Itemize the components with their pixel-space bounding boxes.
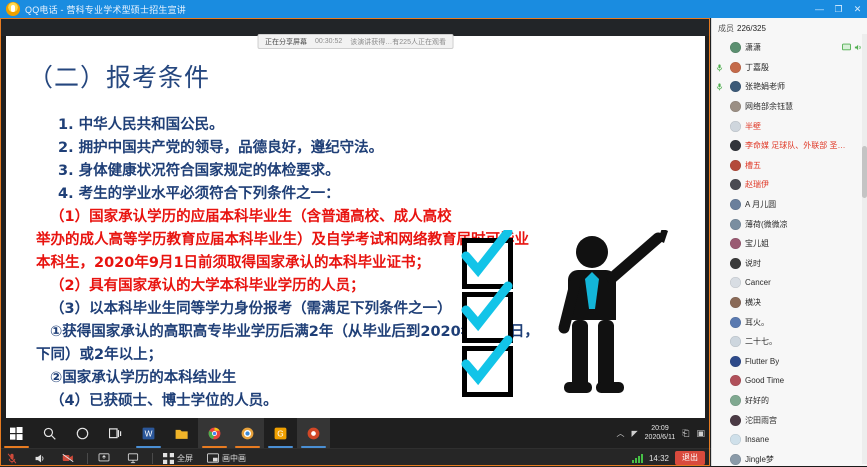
avatar <box>730 375 741 386</box>
chrome-icon <box>208 427 221 440</box>
restore-button[interactable]: ❐ <box>829 0 848 18</box>
windows-logo <box>10 427 23 440</box>
share-screen-button[interactable] <box>91 449 120 467</box>
avatar <box>730 121 741 132</box>
member-row[interactable]: 半壁 <box>712 116 867 136</box>
show-desktop-icon[interactable]: ▣ <box>696 428 705 439</box>
member-row[interactable]: 潇潇 <box>712 38 867 58</box>
qq-penguin-icon <box>6 2 20 16</box>
slide-title: （二）报考条件 <box>28 58 210 94</box>
member-list-label: 成员 <box>718 23 734 34</box>
member-list: 潇潇丁嘉殷张艳娟老师网络部余钰慧半壁李命媒 足球队、外联部 圣…槽五赵瑞伊A 月… <box>712 38 867 466</box>
word-icon: W <box>142 427 155 440</box>
picture-in-picture-icon <box>207 453 219 463</box>
presentation-icon <box>127 453 139 464</box>
member-row[interactable]: 网络部余钰慧 <box>712 97 867 117</box>
svg-text:W: W <box>145 429 153 438</box>
screen-share-icon <box>842 43 851 52</box>
taskbar-date: 2020/6/11 <box>645 433 676 442</box>
share-viewers-text: 该演讲获得…有225人正在观看 <box>350 37 446 47</box>
screen-share-icon <box>98 453 110 463</box>
member-sidebar: 成员 226/325 潇潇丁嘉殷张艳娟老师网络部余钰慧半壁李命媒 足球队、外联部… <box>711 18 867 466</box>
member-name: 赵瑞伊 <box>745 179 769 190</box>
call-right-controls: 14:32 退出 <box>632 451 711 465</box>
svg-text:G: G <box>277 429 283 438</box>
avatar <box>730 140 741 151</box>
camera-off-icon <box>62 453 74 463</box>
member-name: Insane <box>745 435 769 444</box>
member-name: 说时 <box>745 258 761 269</box>
taskbar-chrome-app[interactable] <box>198 418 231 448</box>
presentation-button[interactable] <box>120 449 149 467</box>
taskbar-powerpoint-app[interactable] <box>297 418 330 448</box>
taskbar-browser-app[interactable] <box>231 418 264 448</box>
fullscreen-icon <box>163 453 174 464</box>
avatar <box>730 356 741 367</box>
member-name: Good Time <box>745 376 784 385</box>
pip-button[interactable]: 画中画 <box>200 449 253 467</box>
member-name: 网络部余钰慧 <box>745 101 793 112</box>
member-badges <box>842 43 863 52</box>
member-count: 226/325 <box>737 24 766 33</box>
minimize-button[interactable]: — <box>810 0 829 18</box>
speaker-icon <box>34 453 45 464</box>
person-figure-icon <box>534 230 674 410</box>
member-list-header: 成员 226/325 <box>712 18 867 36</box>
slide-line: 4. 考生的学业水平必须符合下列条件之一： <box>36 183 696 206</box>
slide-line: （1）国家承认学历的应届本科毕业生（含普通高校、成人高校 <box>36 206 696 229</box>
slide-line: 3. 身体健康状况符合国家规定的体检要求。 <box>36 160 696 183</box>
avatar <box>730 415 741 426</box>
member-row[interactable]: 好好的 <box>712 391 867 411</box>
member-name: 槽五 <box>745 160 761 171</box>
member-row[interactable]: Jingle梦 <box>712 449 867 466</box>
taskview-icon <box>109 427 122 440</box>
member-row[interactable]: 二十七。 <box>712 332 867 352</box>
tray-app-icon[interactable]: ⎗ <box>682 428 689 439</box>
call-control-bar: 全屏 画中画 14:32 退出 <box>0 448 711 467</box>
share-status-bar: 正在分享屏幕 00:30:52 该演讲获得…有225人正在观看 <box>257 34 454 49</box>
shared-screen-stage: 正在分享屏幕 00:30:52 该演讲获得…有225人正在观看 （二）报考条件 … <box>0 18 711 418</box>
taskbar-explorer-app[interactable] <box>165 418 198 448</box>
taskbar-qq-app[interactable]: G <box>264 418 297 448</box>
avatar <box>730 395 741 406</box>
browser-icon <box>241 427 254 440</box>
window-title: QQ电话 - 营科专业学术型硕士招生宣讲 <box>25 3 186 16</box>
member-name: 二十七。 <box>745 336 777 347</box>
avatar <box>730 81 741 92</box>
taskbar-clock[interactable]: 20:09 2020/6/11 <box>645 424 676 442</box>
member-mic-icon <box>716 64 723 72</box>
fullscreen-label: 全屏 <box>177 453 193 464</box>
member-name: A 月儿圆 <box>745 199 776 210</box>
member-row[interactable]: 赵瑞伊 <box>712 175 867 195</box>
member-row[interactable]: A 月儿圆 <box>712 195 867 215</box>
share-status-label: 正在分享屏幕 <box>265 37 307 47</box>
member-row[interactable]: 耳火。 <box>712 312 867 332</box>
member-row[interactable]: 宝儿姐 <box>712 234 867 254</box>
avatar <box>730 42 741 53</box>
ppt-icon <box>307 427 320 440</box>
tray-overflow-icon[interactable]: ︿ <box>617 428 625 439</box>
member-mic-icon <box>716 83 723 91</box>
avatar <box>730 277 741 288</box>
member-row[interactable]: Flutter By <box>712 352 867 372</box>
slide-line: 2. 拥护中国共产党的领导，品德良好，遵纪守法。 <box>36 137 696 160</box>
circle-icon <box>76 427 89 440</box>
member-row[interactable]: Good Time <box>712 371 867 391</box>
taskbar-search-button[interactable] <box>33 418 66 448</box>
member-name: 好好的 <box>745 395 769 406</box>
share-elapsed-time: 00:30:52 <box>315 38 342 45</box>
window-title-bar[interactable]: QQ电话 - 营科专业学术型硕士招生宣讲 — ❐ ✕ <box>0 0 867 18</box>
member-row[interactable]: Insane <box>712 430 867 450</box>
member-row[interactable]: 薄荷(微微凉 <box>712 214 867 234</box>
slide-line: 1. 中华人民共和国公民。 <box>36 114 696 137</box>
taskbar-taskview-button[interactable] <box>99 418 132 448</box>
system-tray: ︿ ◤ 20:09 2020/6/11 ⎗ ▣ <box>617 418 712 448</box>
avatar <box>730 179 741 190</box>
avatar <box>730 219 741 230</box>
avatar <box>730 101 741 112</box>
member-row[interactable]: 沱田雨宫 <box>712 410 867 430</box>
avatar <box>730 62 741 73</box>
member-name: 潇潇 <box>745 42 761 53</box>
member-name: 张艳娟老师 <box>745 81 785 92</box>
window-controls: — ❐ ✕ <box>810 0 867 18</box>
avatar <box>730 258 741 269</box>
avatar <box>730 238 741 249</box>
close-button[interactable]: ✕ <box>848 0 867 18</box>
member-name: 宝儿姐 <box>745 238 769 249</box>
member-name: Flutter By <box>745 357 779 366</box>
windows-taskbar: WG ︿ ◤ 20:09 2020/6/11 ⎗ ▣ <box>0 418 711 448</box>
member-row[interactable]: 槽五 <box>712 156 867 176</box>
signal-strength-icon <box>632 454 643 463</box>
taskbar-start-button[interactable] <box>0 418 33 448</box>
avatar <box>730 297 741 308</box>
member-row[interactable]: 张艳娟老师 <box>712 77 867 97</box>
member-name: 耳火。 <box>745 317 769 328</box>
checklist-person-illustration <box>456 230 681 410</box>
speaker-toggle-button[interactable] <box>27 449 55 467</box>
fullscreen-button[interactable]: 全屏 <box>156 449 200 467</box>
avatar <box>730 454 741 465</box>
speaking-icon <box>854 43 863 52</box>
avatar <box>730 317 741 328</box>
taskbar-cortana-button[interactable] <box>66 418 99 448</box>
member-name: 横决 <box>745 297 761 308</box>
control-divider-2 <box>152 453 153 464</box>
tray-network-icon[interactable]: ◤ <box>632 429 638 438</box>
folder-icon <box>175 427 188 440</box>
avatar <box>730 199 741 210</box>
member-name: 半壁 <box>745 121 761 132</box>
search-icon <box>43 427 56 440</box>
avatar <box>730 336 741 347</box>
member-name: 李命媒 足球队、外联部 圣… <box>745 140 845 151</box>
pip-label: 画中画 <box>222 453 246 464</box>
avatar <box>730 160 741 171</box>
member-name: 沱田雨宫 <box>745 415 777 426</box>
member-row[interactable]: 丁嘉殷 <box>712 58 867 78</box>
avatar <box>730 434 741 445</box>
control-divider-1 <box>87 453 88 464</box>
member-name: 丁嘉殷 <box>745 62 769 73</box>
qq-call-window: QQ电话 - 营科专业学术型硕士招生宣讲 — ❐ ✕ 正在分享屏幕 00:30:… <box>0 0 867 466</box>
call-timer: 14:32 <box>649 454 669 463</box>
member-name: Cancer <box>745 278 771 287</box>
taskbar-word-app[interactable]: W <box>132 418 165 448</box>
member-row[interactable]: 说时 <box>712 254 867 274</box>
member-row[interactable]: 横决 <box>712 293 867 313</box>
camera-toggle-button[interactable] <box>55 449 84 467</box>
microphone-muted-icon <box>7 453 17 464</box>
presentation-slide: （二）报考条件 1. 中华人民共和国公民。2. 拥护中国共产党的领导，品德良好，… <box>6 36 705 418</box>
member-name: Jingle梦 <box>745 454 774 465</box>
microphone-toggle-button[interactable] <box>0 449 27 467</box>
exit-call-button[interactable]: 退出 <box>675 451 705 465</box>
member-row[interactable]: Cancer <box>712 273 867 293</box>
taskbar-time: 20:09 <box>645 424 676 433</box>
qq-icon: G <box>274 427 287 440</box>
member-name: 薄荷(微微凉 <box>745 219 788 230</box>
member-row[interactable]: 李命媒 足球队、外联部 圣… <box>712 136 867 156</box>
